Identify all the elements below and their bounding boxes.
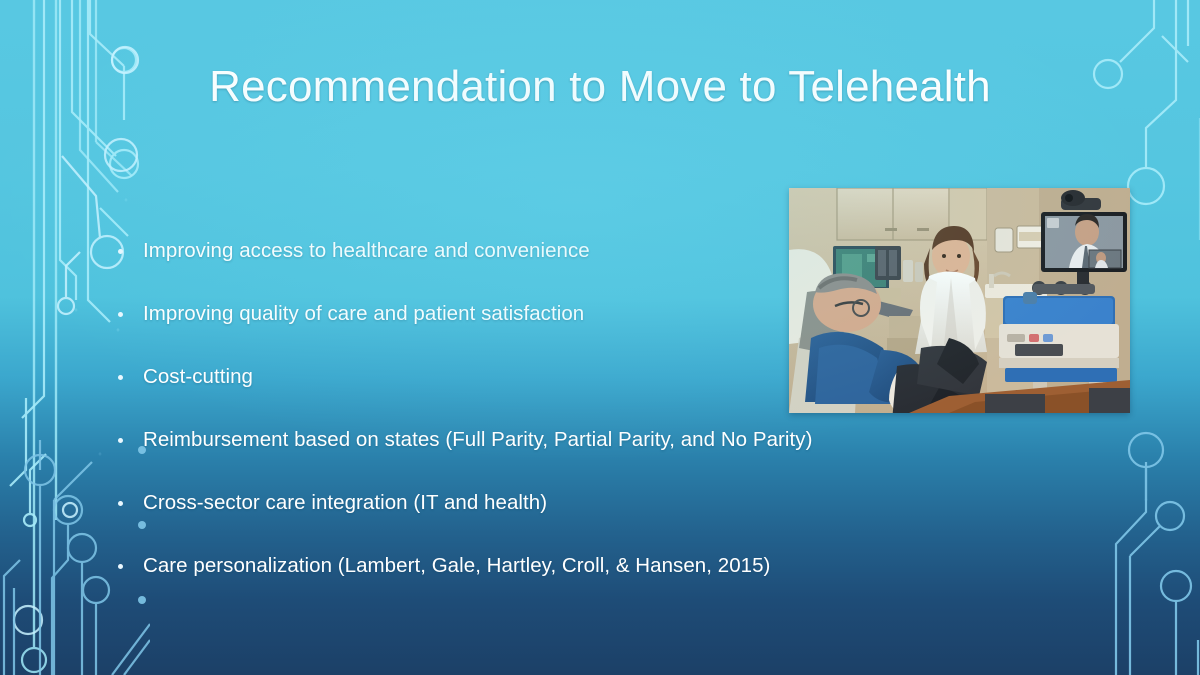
presentation-slide: Recommendation to Move to Telehealth Imp… — [0, 0, 1200, 675]
bullet-text: Reimbursement based on states (Full Pari… — [143, 427, 812, 453]
bullet-text: Care personalization (Lambert, Gale, Har… — [143, 553, 770, 579]
bullet-dot-icon — [118, 564, 123, 569]
bullet-text: Cost-cutting — [143, 364, 253, 390]
bullet-dot-icon — [118, 375, 123, 380]
page-title: Recommendation to Move to Telehealth — [0, 62, 1200, 113]
bullet-dot-icon — [118, 312, 123, 317]
list-item: Cross-sector care integration (IT and he… — [118, 490, 1038, 553]
list-item: Care personalization (Lambert, Gale, Har… — [118, 553, 1038, 616]
bullet-dot-icon — [118, 438, 123, 443]
bullet-dot-icon — [118, 249, 123, 254]
bullet-text: Improving access to healthcare and conve… — [143, 238, 590, 264]
bullet-text: Cross-sector care integration (IT and he… — [143, 490, 547, 516]
bullet-dot-icon — [118, 501, 123, 506]
bullet-text: Improving quality of care and patient sa… — [143, 301, 584, 327]
telehealth-consultation-photo — [789, 188, 1130, 413]
list-item: Reimbursement based on states (Full Pari… — [118, 427, 1038, 490]
